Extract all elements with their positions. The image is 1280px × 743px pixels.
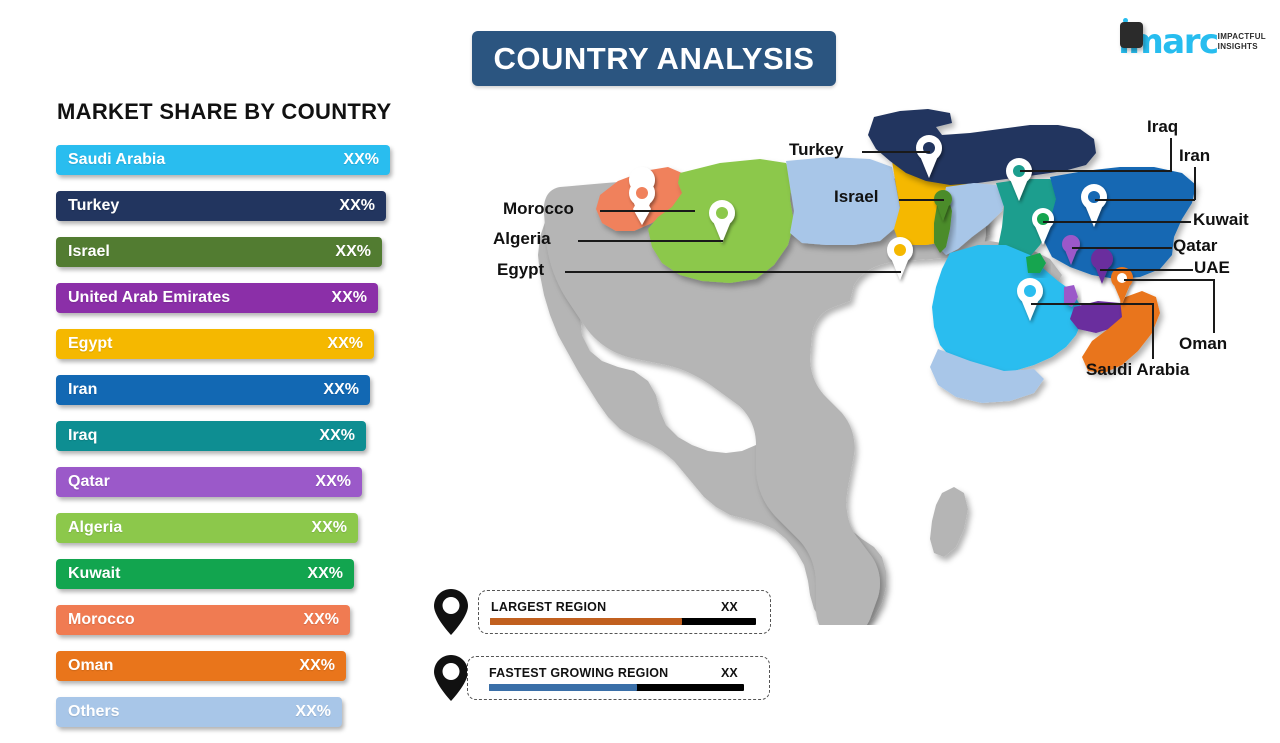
legend-fill-largest — [490, 618, 682, 625]
leader-saudi-v — [1152, 303, 1154, 359]
legend-value-fastest: XX — [721, 666, 738, 680]
map-label-turkey: Turkey — [789, 140, 844, 160]
market-share-bar-label: Qatar — [68, 473, 110, 491]
leader-algeria — [578, 240, 723, 242]
market-share-bar-label: Israel — [68, 243, 110, 261]
map-label-kuwait: Kuwait — [1193, 210, 1249, 230]
leader-israel — [899, 199, 944, 201]
map-label-oman: Oman — [1179, 334, 1227, 354]
legend-label-fastest: FASTEST GROWING REGION — [489, 666, 668, 680]
market-share-bar-label: Algeria — [68, 519, 122, 537]
market-share-bar[interactable]: QatarXX% — [56, 467, 362, 497]
market-share-bar[interactable]: MoroccoXX% — [56, 605, 350, 635]
market-share-bar-value: XX% — [315, 473, 351, 491]
market-share-bar-label: Iran — [68, 381, 97, 399]
leader-uae — [1100, 269, 1193, 271]
market-share-bar[interactable]: TurkeyXX% — [56, 191, 386, 221]
map-label-algeria: Algeria — [493, 229, 551, 249]
leader-iraq-h — [1020, 170, 1172, 172]
logo-tagline: IMPACTFUL INSIGHTS — [1218, 32, 1266, 52]
market-share-bar-value: XX% — [339, 197, 375, 215]
map-label-egypt: Egypt — [497, 260, 544, 280]
market-share-bar-label: Kuwait — [68, 565, 120, 583]
market-share-bar-label: Turkey — [68, 197, 119, 215]
market-share-bar[interactable]: IranXX% — [56, 375, 370, 405]
legend-label-largest: LARGEST REGION — [491, 600, 606, 614]
leader-qatar — [1072, 247, 1172, 249]
market-share-bar-value: XX% — [311, 519, 347, 537]
market-share-bar[interactable]: KuwaitXX% — [56, 559, 354, 589]
leader-oman-v — [1213, 279, 1215, 333]
market-share-bar-value: XX% — [299, 657, 335, 675]
country-iran — [1044, 167, 1196, 279]
country-saudi-arabia — [932, 245, 1082, 373]
map-label-qatar: Qatar — [1173, 236, 1217, 256]
market-share-bar-value: XX% — [307, 565, 343, 583]
market-share-bar-label: Iraq — [68, 427, 97, 445]
market-share-bar-value: XX% — [323, 381, 359, 399]
legend-track-fastest — [489, 684, 744, 691]
slide-canvas: COUNTRY ANALYSIS imarc IMPACTFUL INSIGHT… — [0, 0, 1280, 720]
leader-saudi-h — [1031, 303, 1153, 305]
market-share-bar-value: XX% — [303, 611, 339, 629]
page-title: COUNTRY ANALYSIS — [494, 41, 815, 77]
market-share-heading: MARKET SHARE BY COUNTRY — [57, 99, 391, 125]
page-title-banner: COUNTRY ANALYSIS — [472, 31, 836, 86]
market-share-bar-label: United Arab Emirates — [68, 289, 230, 307]
map-label-iraq: Iraq — [1147, 117, 1178, 137]
legend-value-largest: XX — [721, 600, 738, 614]
market-share-bar-label: Others — [68, 703, 120, 721]
market-share-bar-value: XX% — [335, 243, 371, 261]
map-label-saudi-arabia: Saudi Arabia — [1086, 360, 1189, 380]
market-share-bar-label: Oman — [68, 657, 113, 675]
leader-iran-v — [1194, 167, 1196, 200]
leader-egypt — [565, 271, 901, 273]
logo-divider — [1120, 22, 1143, 48]
pin-uae — [1091, 248, 1113, 284]
logo-tagline-line2: INSIGHTS — [1218, 42, 1266, 52]
leader-morocco — [600, 210, 695, 212]
market-share-bar[interactable]: IraqXX% — [56, 421, 366, 451]
legend-pin-largest — [432, 588, 470, 641]
map-label-uae: UAE — [1194, 258, 1230, 278]
market-share-bar[interactable]: EgyptXX% — [56, 329, 374, 359]
legend-track-largest — [490, 618, 756, 625]
market-share-bar[interactable]: United Arab EmiratesXX% — [56, 283, 378, 313]
market-share-bar[interactable]: Saudi ArabiaXX% — [56, 145, 390, 175]
market-share-bar-value: XX% — [327, 335, 363, 353]
market-share-bar-label: Morocco — [68, 611, 135, 629]
map-label-iran: Iran — [1179, 146, 1210, 166]
leader-oman-h — [1124, 279, 1214, 281]
leader-iran-h — [1095, 199, 1195, 201]
logo-tagline-line1: IMPACTFUL — [1218, 32, 1266, 42]
legend-pin-fastest — [432, 654, 470, 707]
map-label-israel: Israel — [834, 187, 878, 207]
pin-egypt — [887, 237, 913, 280]
market-share-bar[interactable]: AlgeriaXX% — [56, 513, 358, 543]
legend-fill-fastest — [489, 684, 637, 691]
market-share-bar-value: XX% — [331, 289, 367, 307]
market-share-bar-label: Egypt — [68, 335, 112, 353]
market-share-bar[interactable]: IsraelXX% — [56, 237, 382, 267]
map-label-morocco: Morocco — [503, 199, 574, 219]
market-share-bar[interactable]: OmanXX% — [56, 651, 346, 681]
leader-iraq-v — [1170, 138, 1172, 171]
market-share-bar-value: XX% — [319, 427, 355, 445]
leader-turkey — [862, 151, 930, 153]
market-share-bar-value: XX% — [343, 151, 379, 169]
madagascar — [930, 487, 968, 557]
market-share-bar-value: XX% — [295, 703, 331, 721]
imarc-logo: imarc IMPACTFUL INSIGHTS — [1118, 22, 1266, 62]
leader-kuwait — [1043, 221, 1191, 223]
market-share-bar-label: Saudi Arabia — [68, 151, 165, 169]
market-share-bar[interactable]: OthersXX% — [56, 697, 342, 727]
